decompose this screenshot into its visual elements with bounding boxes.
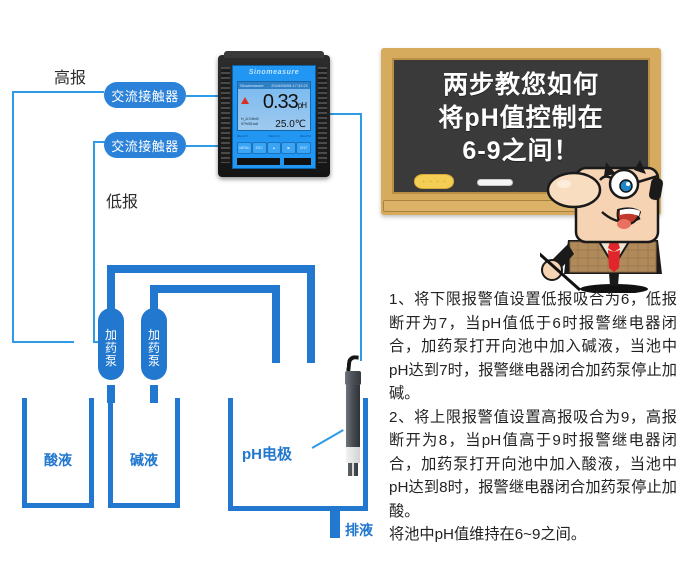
dosing-pump-alkali-c2: 药 [148, 342, 160, 355]
contactor-low-alarm-label: 交流接触器 [111, 136, 179, 155]
ph-electrode-label: pH电极 [207, 443, 327, 464]
relay-led-3: RELAY3 [300, 134, 311, 138]
label-high-alarm: 高报 [54, 64, 86, 88]
terminal-bar-left [237, 158, 280, 165]
temp-unit: ℃ [295, 119, 306, 130]
tank-acid: 酸液 [22, 398, 94, 508]
dosing-pump-acid-c1: 加 [105, 329, 117, 342]
wire-high-alarm-top [12, 91, 104, 93]
alarm-warning-icon [241, 97, 249, 104]
contactor-low-alarm[interactable]: 交流接触器 [104, 132, 186, 158]
meter-keypad[interactable]: MENU ESC ▲ ▶ ENT [237, 142, 311, 154]
probe-tip [348, 463, 358, 476]
instruction-step-2: 2、将上限报警值设置高报吸合为9，高报断开为8，当pH值高于9时报警继电器闭合，… [389, 406, 677, 524]
pipe-alkali-top [150, 285, 280, 293]
meter-terminal-bars [237, 158, 311, 165]
meter-brand: Sinomeasure [233, 69, 315, 76]
wire-contactor1-to-meter [186, 95, 222, 97]
lcd-ph-value: 0.33pH [263, 91, 306, 114]
teacher-illustration [540, 148, 680, 293]
dosing-pump-alkali-c3: 泵 [148, 355, 160, 368]
contactor-high-alarm[interactable]: 交流接触器 [104, 82, 186, 108]
probe-cap [345, 371, 361, 385]
tank-alkali: 碱液 [108, 398, 180, 508]
wire-low-alarm-left [93, 141, 95, 343]
dosing-pump-acid-c2: 药 [105, 342, 117, 355]
probe-body [346, 385, 360, 447]
meter-grill-left [221, 67, 230, 163]
wire-electrode-down [360, 113, 362, 361]
label-drain: 排液 [345, 520, 373, 540]
lcd-header-left: Sinomeasure [240, 83, 264, 88]
instruction-step-1: 1、将下限报警值设置低报吸合为6，低报断开为7，当pH值低于6时报警继电器闭合，… [389, 288, 677, 406]
ph-controller-meter[interactable]: Sinomeasure Sinomeasure 2016/08/08 17:32… [218, 55, 330, 177]
pipe-alkali-drop [272, 285, 280, 363]
instruction-summary: 将池中pH值维持在6~9之间。 [389, 523, 677, 547]
dosing-pump-alkali-c1: 加 [148, 329, 160, 342]
lcd-status-bar: Sinomeasure 2016/08/08 17:32:21 [238, 82, 310, 89]
meter-face: Sinomeasure Sinomeasure 2016/08/08 17:32… [232, 65, 316, 169]
lcd-main-reading: 0.33pH [238, 89, 310, 117]
meter-button-esc[interactable]: ESC [252, 142, 267, 154]
lcd-temp-value: 25.0℃ [275, 119, 306, 130]
wire-high-alarm-left [12, 91, 14, 343]
blackboard-line-2: 将pH值控制在 [394, 102, 648, 135]
meter-grill-right [318, 67, 327, 163]
dosing-pump-alkali[interactable]: 加 药 泵 [141, 308, 167, 380]
teacher-character [540, 148, 680, 293]
sponge-eraser-icon [414, 174, 454, 189]
meter-relay-leds: RELAY1 RELAY2 RELAY3 [237, 134, 311, 138]
chalk-icon [477, 179, 513, 186]
meter-top-lip [224, 51, 324, 58]
wire-contactor2-to-meter [186, 145, 222, 147]
lcd-header-right: 2016/08/08 17:32:21 [271, 83, 308, 88]
blackboard-line-1: 两步教您如何 [394, 69, 648, 102]
label-low-alarm: 低报 [106, 188, 138, 212]
tank-alkali-label: 碱液 [113, 450, 175, 470]
instructions-panel: 1、将下限报警值设置低报吸合为6，低报断开为7，当pH值低于6时报警继电器闭合，… [389, 288, 677, 547]
diagram-canvas: 交流接触器 交流接触器 高报 低报 加 药 泵 加 药 泵 酸液 碱液 pH电极… [0, 0, 680, 578]
dosing-pump-acid[interactable]: 加 药 泵 [98, 308, 124, 380]
wire-high-alarm-bottom [12, 341, 74, 343]
relay-led-1: RELAY1 [237, 134, 248, 138]
ph-electrode-probe [345, 355, 361, 477]
meter-button-menu[interactable]: MENU [237, 142, 252, 154]
wire-electrode-top [330, 113, 362, 115]
ph-number: 0.33 [263, 91, 298, 113]
contactor-high-alarm-label: 交流接触器 [111, 86, 179, 105]
meter-lcd-screen: Sinomeasure 2016/08/08 17:32:21 0.33pH H… [237, 81, 311, 131]
temp-number: 25.0 [275, 119, 294, 130]
terminal-bar-right [284, 158, 311, 165]
pipe-drain [330, 510, 340, 538]
dosing-pump-acid-c3: 泵 [105, 355, 117, 368]
ph-unit: pH [298, 101, 306, 110]
lcd-small-line-1: H_A 0.5mS [241, 117, 259, 122]
lcd-secondary-reading: H_A 0.5mS 97%/51mA 25.0℃ [238, 117, 310, 131]
pipe-acid-top [107, 265, 315, 273]
relay-led-2: RELAY2 [268, 134, 279, 138]
tank-acid-label: 酸液 [27, 450, 89, 470]
pipe-acid-drop [307, 265, 315, 363]
meter-button-up[interactable]: ▲ [267, 142, 282, 154]
meter-button-right[interactable]: ▶ [281, 142, 296, 154]
lcd-small-line-2: 97%/51mA [241, 122, 258, 127]
probe-white-section [346, 447, 360, 463]
meter-button-ent[interactable]: ENT [296, 142, 311, 154]
